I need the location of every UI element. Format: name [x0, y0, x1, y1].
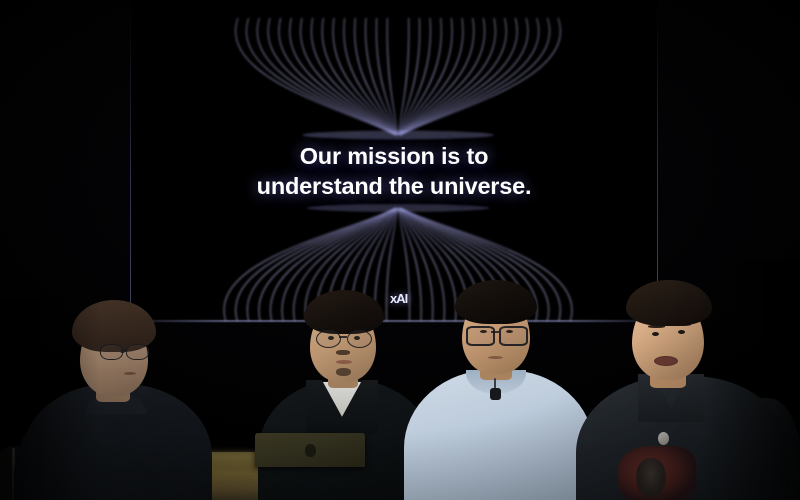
tshirt-graphic-detail [636, 458, 666, 498]
mission-line-2: understand the universe. [130, 172, 658, 202]
glasses-icon [316, 330, 372, 347]
dome-line [236, 18, 395, 135]
glasses-icon [466, 326, 526, 344]
dome-line [290, 18, 396, 135]
dome-line [401, 18, 560, 135]
slide-mission-statement: Our mission is to understand the univers… [130, 142, 658, 202]
dome-line [400, 18, 496, 135]
apple-logo-icon [305, 444, 316, 457]
mouth-open-speaking [654, 356, 678, 366]
lavalier-microphone [490, 388, 501, 400]
dome-line [400, 18, 506, 135]
hair [455, 280, 537, 324]
mouth [488, 356, 503, 359]
mouth [336, 360, 352, 364]
glasses-icon [100, 344, 150, 360]
dome-line [301, 18, 397, 135]
goatee [336, 368, 351, 376]
hair [626, 280, 712, 326]
eye-right [678, 330, 685, 334]
mission-line-1: Our mission is to [300, 143, 489, 169]
hair [304, 290, 384, 334]
eye-left [652, 332, 659, 336]
panelist-far-right [562, 280, 800, 500]
moustache [336, 350, 350, 355]
livestream-frame: Our mission is to understand the univers… [0, 0, 800, 500]
pendant-necklace [658, 432, 669, 445]
mouth [124, 372, 136, 375]
panelist-far-left [8, 296, 223, 500]
laptop[interactable] [255, 433, 365, 467]
